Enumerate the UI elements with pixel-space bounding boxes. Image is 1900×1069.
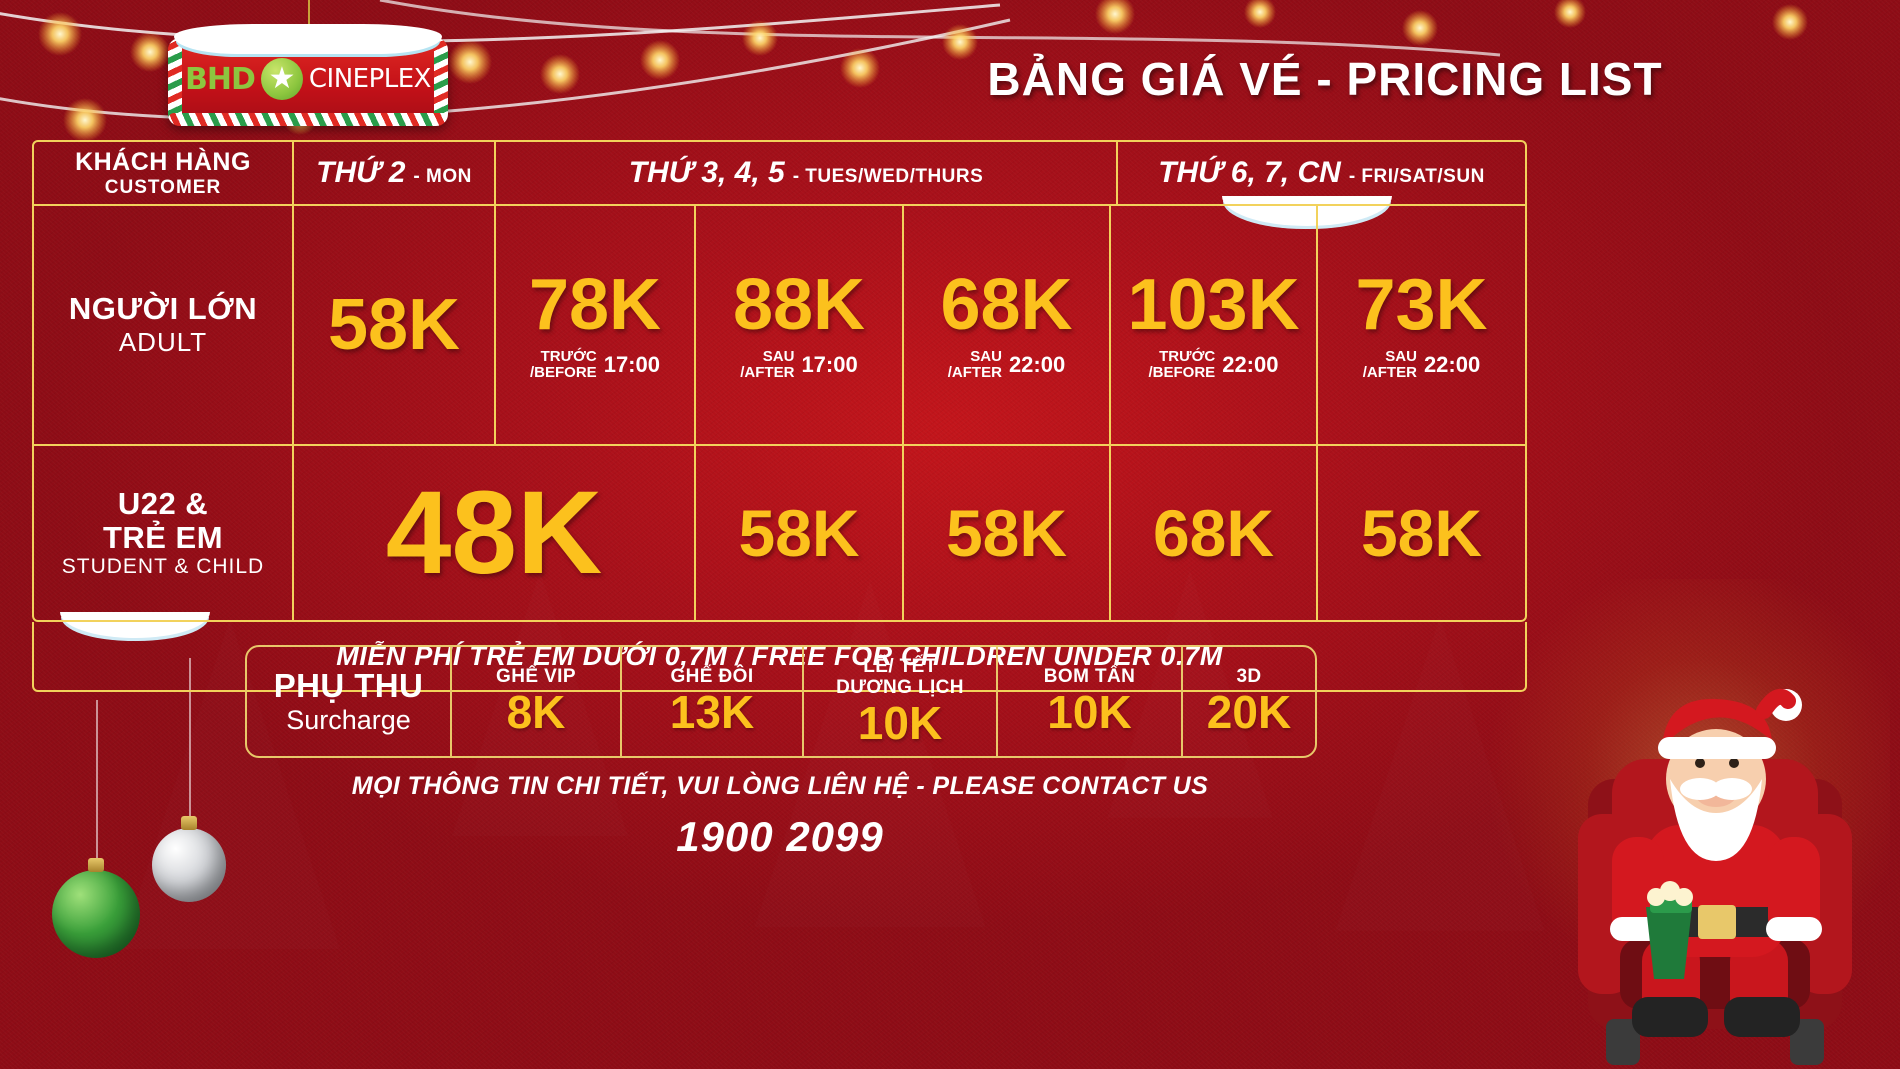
monday-label-vi: THỨ 2 xyxy=(316,156,405,190)
table-header-row: KHÁCH HÀNG CUSTOMER THỨ 2 - MON THỨ 3, 4… xyxy=(34,142,1525,206)
logo-cineplex-text: CINEPLEX xyxy=(309,64,431,94)
page-title: BẢNG GIÁ VÉ - PRICING LIST xyxy=(780,52,1870,106)
surcharge-item-amount: 10K xyxy=(1047,688,1131,736)
sub-time: 22:00 xyxy=(1222,352,1278,378)
column-header-fri-sat-sun: THỨ 6, 7, CN - FRI/SAT/SUN xyxy=(1118,142,1525,204)
star-icon: ★ xyxy=(261,58,303,100)
sub-label-vi: SAU xyxy=(970,348,1002,365)
student-label-vi-2: TRẺ EM xyxy=(103,521,223,555)
snow-cap-decoration xyxy=(174,24,442,54)
sub-label-en: /BEFORE xyxy=(1149,364,1216,381)
sub-time: 22:00 xyxy=(1424,352,1480,378)
surcharge-item-holiday: LỄ/ TẾT DƯƠNG LỊCH 10K xyxy=(804,647,998,756)
price-value: 68K xyxy=(1153,500,1274,566)
price-cell-child-fri-a: 68K xyxy=(1111,446,1318,620)
price-value: 103K xyxy=(1127,269,1299,341)
row-label-adult: NGƯỜI LỚN ADULT xyxy=(34,206,294,444)
price-cell-child-fri-b: 58K xyxy=(1318,446,1525,620)
sub-time: 22:00 xyxy=(1009,352,1065,378)
sub-label-vi: TRƯỚC xyxy=(541,348,597,365)
contact-line: MỌI THÔNG TIN CHI TIẾT, VUI LÒNG LIÊN HỆ… xyxy=(0,772,1560,801)
surcharge-item-couple-seat: GHẾ ĐÔI 13K xyxy=(622,647,804,756)
price-value: 78K xyxy=(529,269,661,341)
customer-label-vi: KHÁCH HÀNG xyxy=(75,148,251,177)
surcharge-header: PHỤ THU Surcharge xyxy=(247,647,452,756)
sub-time: 17:00 xyxy=(801,352,857,378)
monday-label-en: - MON xyxy=(413,166,471,188)
price-value: 58K xyxy=(328,289,460,361)
surcharge-item-amount: 13K xyxy=(670,688,754,736)
price-value: 48K xyxy=(386,474,602,592)
ornament-green xyxy=(52,870,140,958)
price-value: 58K xyxy=(738,500,859,566)
ornament-ball xyxy=(52,870,140,958)
sub-label-en: /AFTER xyxy=(1363,364,1417,381)
surcharge-table: PHỤ THU Surcharge GHẾ VIP 8K GHẾ ĐÔI 13K… xyxy=(245,645,1317,758)
price-cell-adult-fri-after22: 73K SAU /AFTER 22:00 xyxy=(1318,206,1525,444)
surcharge-item-vip-seat: GHẾ VIP 8K xyxy=(452,647,622,756)
adult-label-en: ADULT xyxy=(119,327,207,358)
footer: MỌI THÔNG TIN CHI TIẾT, VUI LÒNG LIÊN HỆ… xyxy=(0,772,1560,861)
surcharge-item-label-2: DƯƠNG LỊCH xyxy=(836,677,964,699)
price-value: 88K xyxy=(733,269,865,341)
tue-wed-thu-label-vi: THỨ 3, 4, 5 xyxy=(629,156,785,190)
row-label-student-child: U22 & TRẺ EM STUDENT & CHILD xyxy=(34,446,294,620)
surcharge-label-vi: PHỤ THU xyxy=(274,667,423,705)
price-cell-adult-mon-before17: 78K TRƯỚC /BEFORE 17:00 xyxy=(496,206,696,444)
price-cell-adult-tue-after17: 88K SAU /AFTER 17:00 xyxy=(696,206,904,444)
student-label-en: STUDENT & CHILD xyxy=(62,555,264,579)
surcharge-item-3d: 3D 20K xyxy=(1183,647,1315,756)
adult-label-vi: NGƯỜI LỚN xyxy=(69,292,257,326)
student-label-vi-1: U22 & xyxy=(118,487,208,521)
price-value: 58K xyxy=(1361,500,1482,566)
sub-label-en: /AFTER xyxy=(740,364,794,381)
surcharge-item-amount: 8K xyxy=(507,688,566,736)
fri-sat-sun-label-en: - FRI/SAT/SUN xyxy=(1349,166,1485,188)
tue-wed-thu-label-en: - TUES/WED/THURS xyxy=(793,166,984,188)
pricing-table: KHÁCH HÀNG CUSTOMER THỨ 2 - MON THỨ 3, 4… xyxy=(32,140,1527,622)
price-cell-child-tue-b: 58K xyxy=(904,446,1111,620)
price-cell-adult-fri-before22: 103K TRƯỚC /BEFORE 22:00 xyxy=(1111,206,1318,444)
surcharge-item-label: 3D xyxy=(1236,666,1261,688)
price-cell-child-tue-a: 58K xyxy=(696,446,904,620)
customer-label-en: CUSTOMER xyxy=(105,177,221,199)
column-header-customer: KHÁCH HÀNG CUSTOMER xyxy=(34,142,294,204)
hotline-number: 1900 2099 xyxy=(0,813,1560,861)
surcharge-item-label: GHẾ ĐÔI xyxy=(670,666,753,688)
sub-time: 17:00 xyxy=(604,352,660,378)
logo-hanging-string xyxy=(308,0,310,26)
surcharge-label-en: Surcharge xyxy=(286,705,411,736)
santa-illustration xyxy=(1550,639,1880,1069)
sub-label-vi: SAU xyxy=(763,348,795,365)
table-row-adult: NGƯỜI LỚN ADULT 58K 78K TRƯỚC /BEFORE 17… xyxy=(34,206,1525,446)
surcharge-item-amount: 10K xyxy=(858,699,942,747)
column-header-tue-wed-thu: THỨ 3, 4, 5 - TUES/WED/THURS xyxy=(496,142,1118,204)
logo-bhd-text: BHD xyxy=(185,62,255,97)
price-value: 68K xyxy=(940,269,1072,341)
surcharge-item-label: LỄ/ TẾT xyxy=(863,656,937,678)
sub-label-vi: SAU xyxy=(1385,348,1417,365)
column-header-monday: THỨ 2 - MON xyxy=(294,142,496,204)
table-row-student-child: U22 & TRẺ EM STUDENT & CHILD 48K 58K 58K… xyxy=(34,446,1525,620)
sub-label-en: /BEFORE xyxy=(530,364,597,381)
bhd-cineplex-logo: BHD ★ CINEPLEX xyxy=(168,18,448,130)
sub-label-vi: TRƯỚC xyxy=(1159,348,1215,365)
price-cell-adult-tue-after22: 68K SAU /AFTER 22:00 xyxy=(904,206,1111,444)
price-value: 58K xyxy=(946,500,1067,566)
price-cell-adult-mon: 58K xyxy=(294,206,496,444)
price-cell-child-mon: 48K xyxy=(294,446,696,620)
surcharge-item-amount: 20K xyxy=(1207,688,1291,736)
surcharge-item-blockbuster: BOM TẤN 10K xyxy=(998,647,1183,756)
surcharge-item-label: GHẾ VIP xyxy=(496,666,576,688)
fri-sat-sun-label-vi: THỨ 6, 7, CN xyxy=(1158,156,1341,190)
sub-label-en: /AFTER xyxy=(948,364,1002,381)
surcharge-item-label: BOM TẤN xyxy=(1044,666,1135,688)
price-value: 73K xyxy=(1355,269,1487,341)
